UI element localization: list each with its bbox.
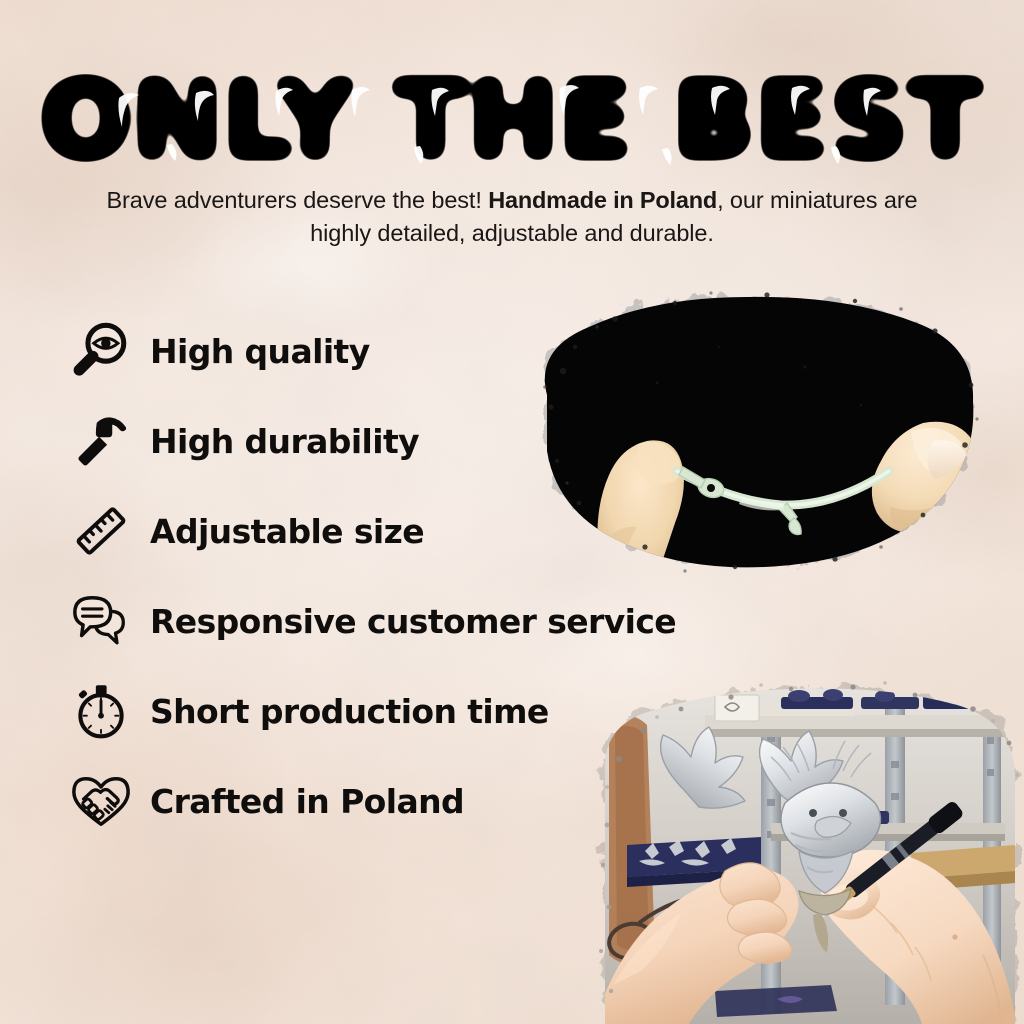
- speech-bubbles-icon: [62, 582, 140, 660]
- photo-workshop-painting: [585, 655, 1024, 1024]
- feature-label: High durability: [150, 422, 419, 461]
- heart-handshake-icon: [62, 762, 140, 840]
- infographic-page: ONLY THE BEST Brave adventurers d: [0, 0, 1024, 1024]
- hammer-icon: [62, 402, 140, 480]
- feature-label: Responsive customer service: [150, 602, 676, 641]
- ruler-icon: [62, 492, 140, 570]
- feature-label: High quality: [150, 332, 370, 371]
- stopwatch-icon: [62, 672, 140, 750]
- page-title-text: ONLY THE BEST: [41, 60, 984, 181]
- subtitle: Brave adventurers deserve the best! Hand…: [90, 184, 934, 251]
- subtitle-highlight: Handmade in Poland: [488, 187, 717, 213]
- feature-label: Adjustable size: [150, 512, 424, 551]
- page-title-graphic: ONLY THE BEST: [0, 60, 1024, 188]
- feature-label: Short production time: [150, 692, 549, 731]
- feature-label: Crafted in Poland: [150, 782, 464, 821]
- subtitle-lead: Brave adventurers deserve the best!: [106, 187, 481, 213]
- magnifier-eye-icon: [62, 312, 140, 390]
- photo-bending-miniature: [505, 275, 1005, 600]
